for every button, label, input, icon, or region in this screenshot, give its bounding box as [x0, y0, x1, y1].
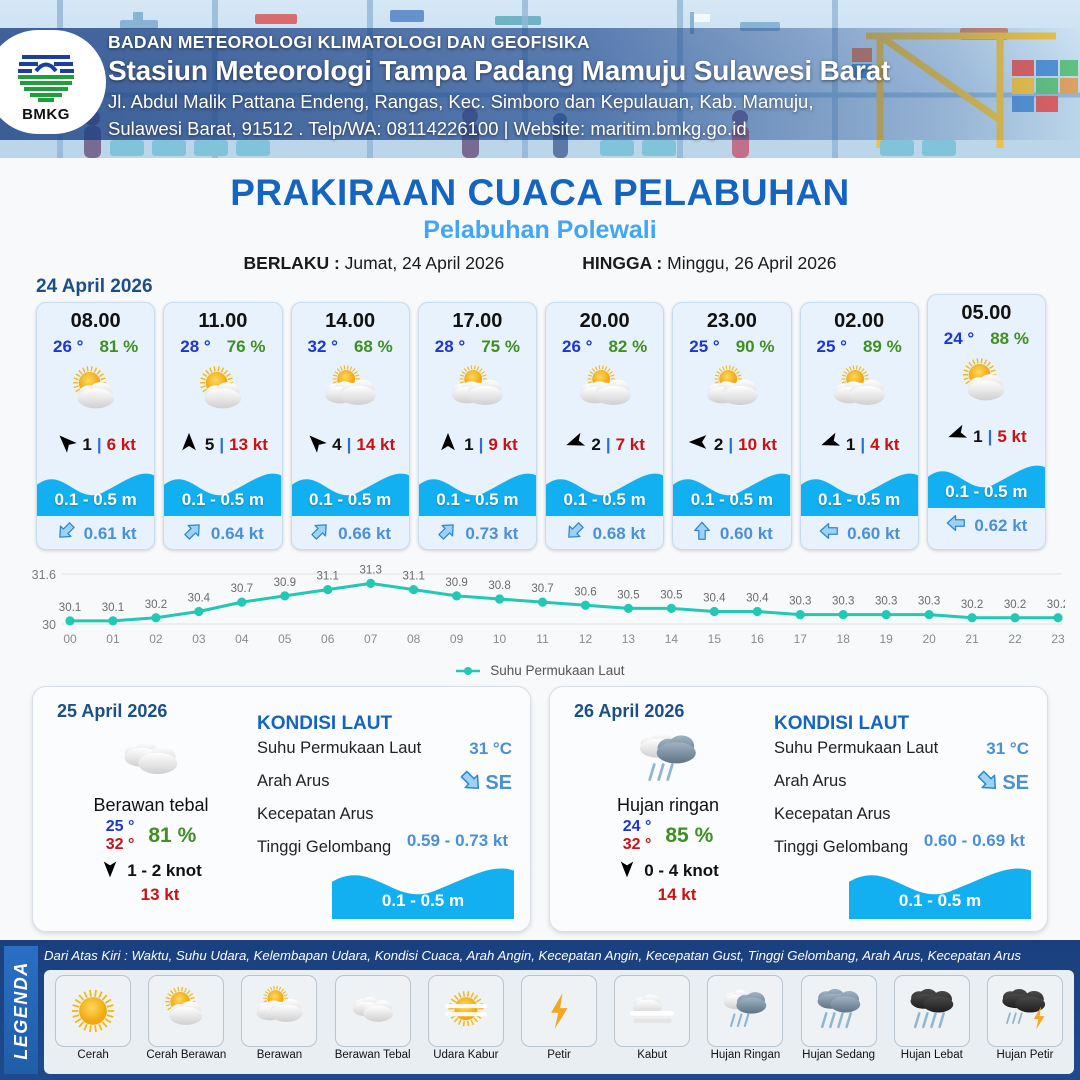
card-current: 0.73 kt	[419, 520, 536, 547]
card-humidity: 81 %	[99, 337, 138, 357]
current-direction-arrow-icon	[975, 768, 1001, 799]
summary-temps: 24 ° 32 ° 85 %	[568, 818, 768, 854]
legend-item-label: Hujan Petir	[997, 1049, 1054, 1062]
wind-direction-value: 1	[464, 435, 473, 455]
wave-height-value: 0.1 - 0.5 m	[928, 482, 1045, 502]
svg-text:20: 20	[922, 632, 936, 646]
svg-text:30.1: 30.1	[59, 602, 81, 614]
weather-berawan-tebal-icon	[51, 729, 251, 791]
weather-berawan-icon	[546, 362, 663, 424]
wind-direction-value: 2	[714, 435, 723, 455]
svg-text:04: 04	[235, 632, 249, 646]
svg-text:30.2: 30.2	[1047, 599, 1065, 611]
card-time: 14.00	[292, 310, 409, 333]
sea-conditions-block: KONDISI LAUT Suhu Permukaan Laut 31 °C A…	[774, 713, 1033, 921]
wind-direction-arrow-icon	[819, 431, 841, 458]
svg-text:13: 13	[622, 632, 636, 646]
card-humidity: 75 %	[481, 337, 520, 357]
sea-conditions-block: KONDISI LAUT Suhu Permukaan Laut 31 °C A…	[257, 713, 516, 921]
weather-cerah-berawan-icon	[928, 354, 1045, 416]
sst-value: 31 °C	[986, 739, 1029, 759]
hingga-label: HINGGA :	[582, 253, 662, 273]
svg-text:30.8: 30.8	[488, 580, 510, 592]
wind-speed-value: 14 kt	[356, 435, 395, 455]
weather-cerah-berawan-icon	[148, 975, 224, 1047]
card-current: 0.64 kt	[164, 520, 281, 547]
card-time: 23.00	[673, 310, 790, 333]
svg-text:14: 14	[665, 632, 679, 646]
svg-text:11: 11	[536, 632, 549, 646]
card-wave: 0.1 - 0.5 m	[801, 464, 918, 516]
summary-temp-max: 32 °	[106, 836, 135, 854]
weather-hujan-sedang-icon	[801, 975, 877, 1047]
wind-direction-arrow-icon	[687, 431, 709, 458]
card-current: 0.66 kt	[292, 520, 409, 547]
card-time: 05.00	[928, 302, 1045, 325]
card-wave: 0.1 - 0.5 m	[546, 464, 663, 516]
weather-cerah-berawan-icon	[37, 362, 154, 424]
sst-value: 31 °C	[469, 739, 512, 759]
legenda-label: LEGENDA	[11, 961, 32, 1060]
summary-temp-max: 32 °	[623, 836, 652, 854]
svg-text:31.1: 31.1	[402, 571, 424, 583]
sea-conditions-title: KONDISI LAUT	[774, 713, 1033, 735]
card-wind: 1 | 5 kt	[928, 423, 1045, 450]
current-speed-value: 0.61 kt	[84, 524, 137, 544]
svg-text:31.3: 31.3	[360, 564, 382, 576]
wave-height-value: 0.1 - 0.5 m	[801, 490, 918, 510]
card-temperature: 25 °	[817, 337, 847, 357]
wind-speed-value: 5 kt	[997, 427, 1026, 447]
weather-kabut-icon	[614, 975, 690, 1047]
card-humidity: 89 %	[863, 337, 902, 357]
legend-item-label: Kabut	[637, 1049, 667, 1062]
wind-separator: |	[728, 435, 733, 455]
station-name: Stasiun Meteorologi Tampa Padang Mamuju …	[108, 55, 890, 87]
summary-gust-value: 14 kt	[586, 885, 768, 905]
current-speed-label: Kecepatan Arus	[774, 805, 891, 823]
sst-label: Suhu Permukaan Laut	[774, 739, 938, 757]
legend-icon-list: Cerah Cerah Berawan	[44, 970, 1074, 1074]
svg-text:30.9: 30.9	[445, 577, 467, 589]
summary-condition: Hujan ringan	[568, 795, 768, 816]
validity-row: BERLAKU : Jumat, 24 April 2026 HINGGA : …	[0, 253, 1080, 274]
summary-wind-value: 0 - 4 knot	[644, 861, 719, 881]
current-speed-value: 0.66 kt	[338, 524, 391, 544]
current-direction-arrow-icon	[55, 520, 77, 547]
card-wave: 0.1 - 0.5 m	[164, 464, 281, 516]
svg-text:30.9: 30.9	[274, 577, 296, 589]
legend-item-label: Cerah	[77, 1049, 108, 1062]
card-current: 0.68 kt	[546, 520, 663, 547]
wind-direction-arrow-icon	[178, 431, 200, 458]
current-speed-row: Kecepatan Arus 0.60 - 0.69 kt	[774, 805, 1033, 838]
card-wind: 4 | 14 kt	[292, 431, 409, 458]
svg-text:30.4: 30.4	[188, 593, 211, 605]
wind-speed-value: 7 kt	[616, 435, 645, 455]
card-current: 0.61 kt	[37, 520, 154, 547]
summary-wave-graphic: 0.1 - 0.5 m	[849, 857, 1031, 919]
card-current: 0.62 kt	[928, 512, 1045, 539]
card-time: 17.00	[419, 310, 536, 333]
current-direction-arrow-icon	[436, 520, 458, 547]
svg-text:03: 03	[192, 632, 206, 646]
current-direction-arrow-icon	[309, 520, 331, 547]
legend-item: Cerah	[48, 975, 138, 1072]
summary-wave-value: 0.1 - 0.5 m	[332, 891, 514, 911]
summary-temps: 25 ° 32 ° 81 %	[51, 818, 251, 854]
legend-item: Berawan Tebal	[328, 975, 418, 1072]
card-current: 0.60 kt	[801, 520, 918, 547]
card-humidity: 88 %	[990, 329, 1029, 349]
daily-summary-panels: 25 April 2026 Berawan tebal 25 ° 32 °	[32, 686, 1048, 932]
card-temperature: 32 °	[308, 337, 338, 357]
daily-summary-panel: 25 April 2026 Berawan tebal 25 ° 32 °	[32, 686, 531, 932]
wave-height-value: 0.1 - 0.5 m	[546, 490, 663, 510]
summary-date: 25 April 2026	[57, 701, 167, 722]
svg-text:05: 05	[278, 632, 292, 646]
svg-text:31.6: 31.6	[32, 568, 56, 582]
hingga-value: Minggu, 26 April 2026	[667, 253, 836, 273]
card-temperature: 28 °	[180, 337, 210, 357]
header-text-block: BADAN METEOROLOGI KLIMATOLOGI DAN GEOFIS…	[108, 32, 890, 140]
current-direction-arrow-icon	[691, 520, 713, 547]
card-wave: 0.1 - 0.5 m	[292, 464, 409, 516]
wind-direction-arrow-icon	[305, 431, 327, 458]
svg-text:30.7: 30.7	[231, 583, 253, 595]
wave-label: Tinggi Gelombang	[257, 838, 391, 856]
sst-chart: 31.63030.10030.10130.20230.40330.70430.9…	[20, 560, 1065, 680]
forecast-card: 14.00 32 ° 68 % 4 | 14 kt	[291, 302, 410, 550]
summary-temp-min: 25 °	[106, 818, 135, 836]
svg-text:10: 10	[493, 632, 507, 646]
card-wind: 2 | 7 kt	[546, 431, 663, 458]
card-temp-humidity: 25 ° 90 %	[673, 337, 790, 357]
current-direction-arrow-icon	[945, 512, 967, 539]
current-speed-value: 0.68 kt	[593, 524, 646, 544]
card-wave: 0.1 - 0.5 m	[419, 464, 536, 516]
card-temp-humidity: 28 ° 75 %	[419, 337, 536, 357]
forecast-card: 11.00 28 ° 76 % 5 | 13 kt	[163, 302, 282, 550]
weather-udara-kabur-icon	[428, 975, 504, 1047]
svg-text:30.1: 30.1	[102, 602, 124, 614]
current-direction-arrow-icon	[458, 768, 484, 799]
current-direction-arrow-icon	[182, 520, 204, 547]
wind-separator: |	[860, 435, 865, 455]
legend-item-label: Petir	[547, 1049, 571, 1062]
legend-item: Kabut	[607, 975, 697, 1072]
svg-text:30.7: 30.7	[531, 583, 553, 595]
card-temp-humidity: 26 ° 82 %	[546, 337, 663, 357]
card-wave: 0.1 - 0.5 m	[37, 464, 154, 516]
card-humidity: 68 %	[354, 337, 393, 357]
svg-text:01: 01	[106, 632, 120, 646]
wind-direction-value: 1	[973, 427, 982, 447]
wind-speed-value: 4 kt	[870, 435, 899, 455]
bmkg-logo-text: BMKG	[22, 106, 70, 123]
forecast-date-label: 24 April 2026	[36, 276, 153, 298]
wind-direction-arrow-icon	[617, 859, 637, 884]
wind-direction-value: 4	[332, 435, 341, 455]
berlaku-label: BERLAKU :	[244, 253, 340, 273]
summary-wave-value: 0.1 - 0.5 m	[849, 891, 1031, 911]
current-speed-label: Kecepatan Arus	[257, 805, 374, 823]
wave-height-value: 0.1 - 0.5 m	[37, 490, 154, 510]
summary-gust-value: 13 kt	[69, 885, 251, 905]
card-wind: 1 | 6 kt	[37, 431, 154, 458]
summary-humidity: 85 %	[665, 824, 713, 848]
page-header: BMKG BADAN METEOROLOGI KLIMATOLOGI DAN G…	[0, 0, 1080, 158]
forecast-card: 08.00 26 ° 81 % 1 | 6 kt	[36, 302, 155, 550]
sst-label: Suhu Permukaan Laut	[257, 739, 421, 757]
summary-wind: 1 - 2 knot	[51, 859, 251, 884]
wind-separator: |	[219, 435, 224, 455]
svg-text:30.5: 30.5	[660, 589, 682, 601]
wind-separator: |	[97, 435, 102, 455]
wind-separator: |	[606, 435, 611, 455]
page-title: PRAKIRAAN CUACA PELABUHAN	[0, 172, 1080, 214]
card-temperature: 26 °	[562, 337, 592, 357]
svg-text:30.3: 30.3	[918, 596, 940, 608]
summary-condition: Berawan tebal	[51, 795, 251, 816]
wind-separator: |	[347, 435, 352, 455]
card-time: 02.00	[801, 310, 918, 333]
address-line-2: Sulawesi Barat, 91512 . Telp/WA: 0811422…	[108, 117, 890, 141]
current-direction-label: Arah Arus	[774, 772, 846, 790]
summary-weather-block: Berawan tebal 25 ° 32 ° 81 % 1 - 2 knot …	[51, 729, 251, 905]
wind-direction-value: 2	[591, 435, 600, 455]
chart-legend: Suhu Permukaan Laut	[0, 663, 1080, 679]
current-speed-value: 0.62 kt	[974, 516, 1027, 536]
current-speed-value: 0.64 kt	[211, 524, 264, 544]
chart-legend-marker-icon	[455, 664, 481, 679]
weather-berawan-icon	[292, 362, 409, 424]
forecast-card: 20.00 26 ° 82 % 2 | 7 kt	[545, 302, 664, 550]
card-current: 0.60 kt	[673, 520, 790, 547]
current-speed-value: 0.60 kt	[720, 524, 773, 544]
svg-text:22: 22	[1008, 632, 1022, 646]
summary-humidity: 81 %	[148, 824, 196, 848]
wind-separator: |	[479, 435, 484, 455]
berlaku-group: BERLAKU : Jumat, 24 April 2026	[244, 253, 505, 274]
current-direction-indicator: SE	[975, 768, 1029, 799]
weather-berawan-icon	[673, 362, 790, 424]
card-humidity: 82 %	[608, 337, 647, 357]
wind-direction-arrow-icon	[946, 423, 968, 450]
svg-text:30.2: 30.2	[1004, 599, 1026, 611]
bmkg-logo: BMKG	[0, 30, 106, 134]
weather-berawan-tebal-icon	[335, 975, 411, 1047]
legend-item-label: Hujan Ringan	[711, 1049, 781, 1062]
svg-text:30.6: 30.6	[574, 586, 596, 598]
hourly-forecast-cards: 08.00 26 ° 81 % 1 | 6 kt	[36, 302, 1046, 550]
card-time: 11.00	[164, 310, 281, 333]
card-temperature: 26 °	[53, 337, 83, 357]
legend-item: Hujan Petir	[980, 975, 1070, 1072]
svg-text:30.2: 30.2	[961, 599, 983, 611]
weather-hujan-lebat-icon	[894, 975, 970, 1047]
bmkg-emblem-icon	[12, 41, 80, 105]
card-humidity: 76 %	[227, 337, 266, 357]
current-speed-value: 0.73 kt	[465, 524, 518, 544]
card-temperature: 28 °	[435, 337, 465, 357]
current-direction-arrow-icon	[818, 520, 840, 547]
legend-item: Udara Kabur	[421, 975, 511, 1072]
wind-separator: |	[988, 427, 993, 447]
svg-text:02: 02	[149, 632, 163, 646]
wave-height-value: 0.1 - 0.5 m	[164, 490, 281, 510]
current-speed-value: 0.60 kt	[847, 524, 900, 544]
card-temp-humidity: 28 ° 76 %	[164, 337, 281, 357]
legenda-sidebar: LEGENDA	[4, 946, 38, 1074]
address-line-1: Jl. Abdul Malik Pattana Endeng, Rangas, …	[108, 90, 890, 114]
forecast-card: 17.00 28 ° 75 % 1 | 9 kt	[418, 302, 537, 550]
current-direction-value: SE	[1002, 772, 1029, 795]
svg-text:30.4: 30.4	[746, 593, 769, 605]
svg-text:23: 23	[1051, 632, 1065, 646]
wind-speed-value: 13 kt	[229, 435, 268, 455]
current-direction-indicator: SE	[458, 768, 512, 799]
svg-text:21: 21	[965, 632, 979, 646]
wave-height-value: 0.1 - 0.5 m	[419, 490, 536, 510]
wind-speed-value: 6 kt	[107, 435, 136, 455]
wind-speed-value: 9 kt	[488, 435, 517, 455]
svg-text:30.3: 30.3	[832, 596, 854, 608]
sst-chart-svg: 31.63030.10030.10130.20230.40330.70430.9…	[20, 560, 1065, 680]
weather-cerah-icon	[55, 975, 131, 1047]
wind-direction-arrow-icon	[100, 859, 120, 884]
legend-item: Hujan Ringan	[700, 975, 790, 1072]
svg-text:07: 07	[364, 632, 378, 646]
legend-bar: LEGENDA Dari Atas Kiri : Waktu, Suhu Uda…	[0, 940, 1080, 1080]
weather-petir-icon	[521, 975, 597, 1047]
wave-height-value: 0.1 - 0.5 m	[292, 490, 409, 510]
svg-text:12: 12	[579, 632, 593, 646]
card-wave: 0.1 - 0.5 m	[928, 456, 1045, 508]
chart-legend-label: Suhu Permukaan Laut	[490, 663, 624, 678]
wind-direction-value: 5	[205, 435, 214, 455]
wind-direction-arrow-icon	[55, 431, 77, 458]
legend-item-label: Hujan Lebat	[901, 1049, 963, 1062]
svg-text:00: 00	[63, 632, 77, 646]
current-direction-label: Arah Arus	[257, 772, 329, 790]
weather-berawan-icon	[241, 975, 317, 1047]
forecast-card: 02.00 25 ° 89 % 1 | 4 kt	[800, 302, 919, 550]
legend-item: Berawan	[234, 975, 324, 1072]
weather-berawan-icon	[801, 362, 918, 424]
svg-text:30.3: 30.3	[875, 596, 897, 608]
card-temperature: 25 °	[689, 337, 719, 357]
svg-text:30.4: 30.4	[703, 593, 726, 605]
legend-item-label: Berawan Tebal	[335, 1049, 411, 1062]
summary-wave-graphic: 0.1 - 0.5 m	[332, 857, 514, 919]
svg-text:08: 08	[407, 632, 421, 646]
card-temp-humidity: 26 ° 81 %	[37, 337, 154, 357]
wind-direction-value: 1	[82, 435, 91, 455]
wave-height-value: 0.1 - 0.5 m	[673, 490, 790, 510]
svg-text:30.5: 30.5	[617, 589, 639, 601]
berlaku-value: Jumat, 24 April 2026	[345, 253, 505, 273]
card-temp-humidity: 24 ° 88 %	[928, 329, 1045, 349]
card-wind: 1 | 9 kt	[419, 431, 536, 458]
svg-text:30.3: 30.3	[789, 596, 811, 608]
svg-text:09: 09	[450, 632, 464, 646]
weather-berawan-icon	[419, 362, 536, 424]
svg-text:19: 19	[879, 632, 893, 646]
card-time: 08.00	[37, 310, 154, 333]
current-speed-row: Kecepatan Arus 0.59 - 0.73 kt	[257, 805, 516, 838]
daily-summary-panel: 26 April 2026 Hujan ringan 24 ° 32 °	[549, 686, 1048, 932]
agency-name: BADAN METEOROLOGI KLIMATOLOGI DAN GEOFIS…	[108, 32, 890, 53]
card-humidity: 90 %	[736, 337, 775, 357]
card-wave: 0.1 - 0.5 m	[673, 464, 790, 516]
legend-item-label: Berawan	[257, 1049, 302, 1062]
sea-conditions-title: KONDISI LAUT	[257, 713, 516, 735]
card-time: 20.00	[546, 310, 663, 333]
svg-text:18: 18	[837, 632, 851, 646]
current-direction-row: Arah Arus SE	[257, 772, 516, 805]
legend-item: Cerah Berawan	[141, 975, 231, 1072]
card-temp-humidity: 32 ° 68 %	[292, 337, 409, 357]
card-wind: 2 | 10 kt	[673, 431, 790, 458]
wave-label: Tinggi Gelombang	[774, 838, 908, 856]
wind-speed-value: 10 kt	[738, 435, 777, 455]
svg-text:15: 15	[708, 632, 722, 646]
summary-wind-value: 1 - 2 knot	[127, 861, 202, 881]
wind-direction-arrow-icon	[564, 431, 586, 458]
legend-note: Dari Atas Kiri : Waktu, Suhu Udara, Kele…	[44, 948, 1072, 963]
legend-item: Hujan Lebat	[887, 975, 977, 1072]
summary-weather-block: Hujan ringan 24 ° 32 ° 85 % 0 - 4 knot 1…	[568, 729, 768, 905]
svg-text:06: 06	[321, 632, 335, 646]
card-temperature: 24 °	[944, 329, 974, 349]
weather-hujan-ringan-icon	[707, 975, 783, 1047]
wind-direction-value: 1	[846, 435, 855, 455]
card-wind: 1 | 4 kt	[801, 431, 918, 458]
wind-direction-arrow-icon	[437, 431, 459, 458]
current-direction-arrow-icon	[564, 520, 586, 547]
legend-item-label: Udara Kabur	[433, 1049, 498, 1062]
summary-temp-min: 24 °	[623, 818, 652, 836]
legend-item-label: Hujan Sedang	[802, 1049, 875, 1062]
svg-text:17: 17	[794, 632, 808, 646]
weather-hujan-petir-icon	[987, 975, 1063, 1047]
legend-item: Petir	[514, 975, 604, 1072]
svg-text:30: 30	[42, 618, 56, 632]
card-wind: 5 | 13 kt	[164, 431, 281, 458]
summary-wind: 0 - 4 knot	[568, 859, 768, 884]
summary-date: 26 April 2026	[574, 701, 684, 722]
forecast-card: 23.00 25 ° 90 % 2 | 10 kt	[672, 302, 791, 550]
current-direction-row: Arah Arus SE	[774, 772, 1033, 805]
hingga-group: HINGGA : Minggu, 26 April 2026	[582, 253, 836, 274]
legend-item-label: Cerah Berawan	[146, 1049, 226, 1062]
forecast-card: 05.00 24 ° 88 % 1 | 5 kt	[927, 294, 1046, 550]
svg-text:16: 16	[751, 632, 765, 646]
svg-text:30.2: 30.2	[145, 599, 167, 611]
svg-text:31.1: 31.1	[317, 571, 339, 583]
card-temp-humidity: 25 ° 89 %	[801, 337, 918, 357]
weather-hujan-ringan-icon	[568, 729, 768, 791]
current-direction-value: SE	[485, 772, 512, 795]
port-subtitle: Pelabuhan Polewali	[0, 216, 1080, 245]
weather-cerah-berawan-icon	[164, 362, 281, 424]
legend-item: Hujan Sedang	[794, 975, 884, 1072]
